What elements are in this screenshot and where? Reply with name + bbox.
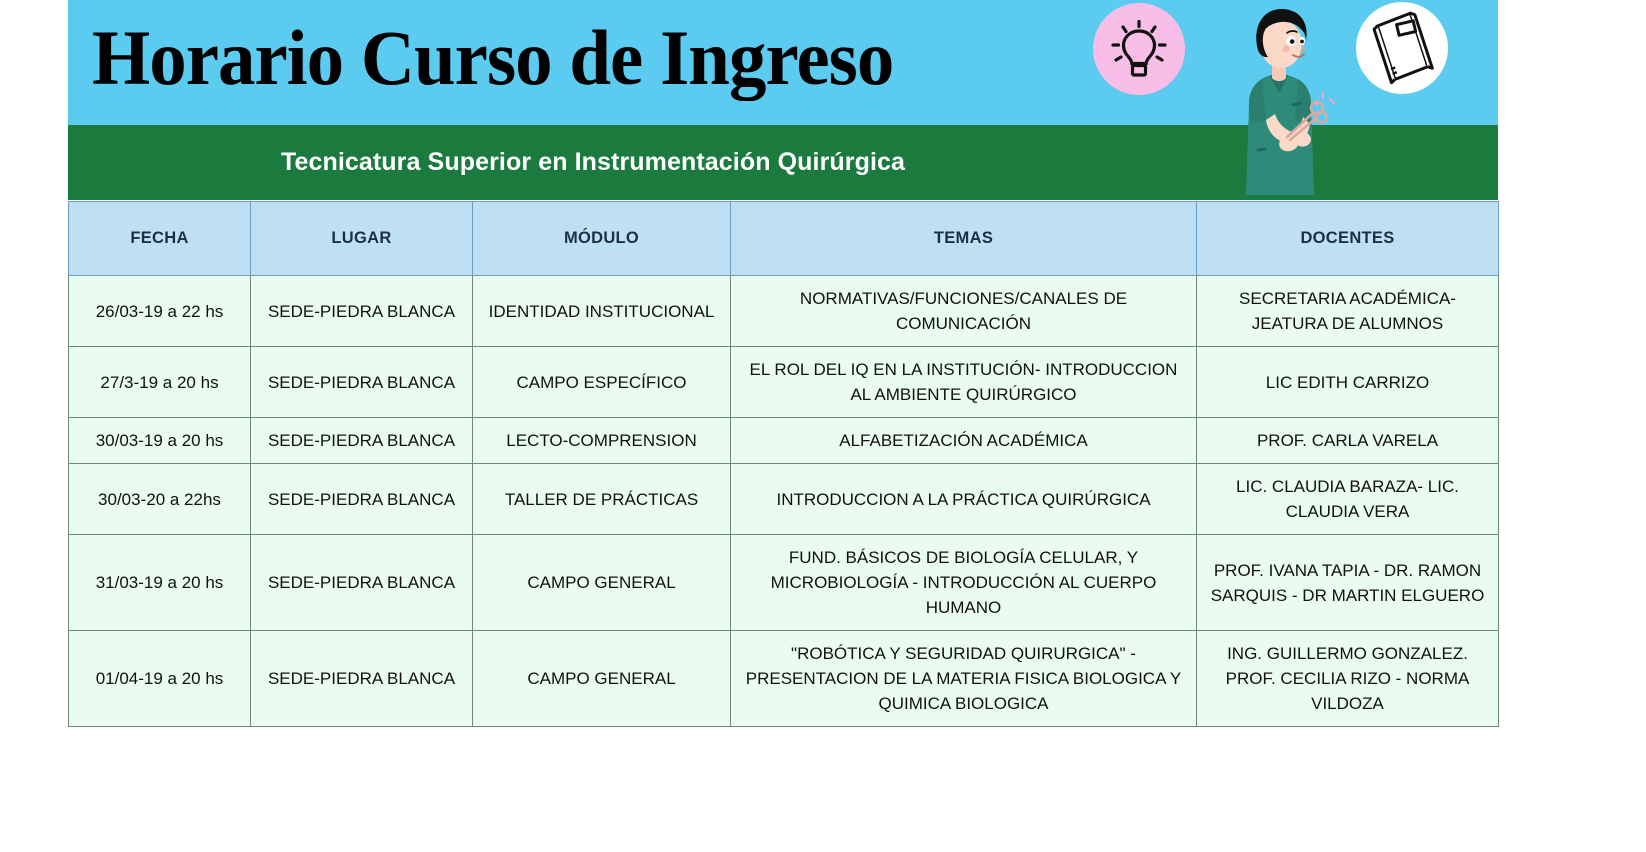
cell-lugar: SEDE-PIEDRA BLANCA: [251, 418, 473, 464]
cell-modulo: CAMPO ESPECÍFICO: [473, 347, 731, 418]
table-row: 30/03-20 a 22hs SEDE-PIEDRA BLANCA TALLE…: [69, 464, 1499, 535]
book-icon: [1356, 2, 1448, 94]
table-row: 27/3-19 a 20 hs SEDE-PIEDRA BLANCA CAMPO…: [69, 347, 1499, 418]
cell-temas: FUND. BÁSICOS DE BIOLOGÍA CELULAR, Y MIC…: [731, 535, 1197, 631]
cell-temas: NORMATIVAS/FUNCIONES/CANALES DE COMUNICA…: [731, 276, 1197, 347]
schedule-table: FECHA LUGAR MÓDULO TEMAS DOCENTES 26/03-…: [68, 201, 1499, 727]
cell-temas: ALFABETIZACIÓN ACADÉMICA: [731, 418, 1197, 464]
cell-modulo: IDENTIDAD INSTITUCIONAL: [473, 276, 731, 347]
page-root: Horario Curso de Ingreso: [0, 0, 1646, 852]
cell-docentes: LIC EDITH CARRIZO: [1197, 347, 1499, 418]
cell-docentes: SECRETARIA ACADÉMICA-JEATURA DE ALUMNOS: [1197, 276, 1499, 347]
program-name: Tecnicatura Superior en Instrumentación …: [68, 125, 1118, 200]
column-header-temas: TEMAS: [731, 202, 1197, 276]
cell-lugar: SEDE-PIEDRA BLANCA: [251, 347, 473, 418]
cell-temas: EL ROL DEL IQ EN LA INSTITUCIÓN- INTRODU…: [731, 347, 1197, 418]
table-row: 26/03-19 a 22 hs SEDE-PIEDRA BLANCA IDEN…: [69, 276, 1499, 347]
column-header-docentes: DOCENTES: [1197, 202, 1499, 276]
lightbulb-icon: [1093, 3, 1185, 95]
cell-fecha: 30/03-20 a 22hs: [69, 464, 251, 535]
cell-lugar: SEDE-PIEDRA BLANCA: [251, 535, 473, 631]
header-band: Horario Curso de Ingreso: [68, 0, 1498, 125]
cell-fecha: 27/3-19 a 20 hs: [69, 347, 251, 418]
cell-lugar: SEDE-PIEDRA BLANCA: [251, 276, 473, 347]
cell-docentes: PROF. CARLA VARELA: [1197, 418, 1499, 464]
book-icon-badge: [1356, 2, 1448, 94]
cell-temas: INTRODUCCION A LA PRÁCTICA QUIRÚRGICA: [731, 464, 1197, 535]
cell-modulo: LECTO-COMPRENSION: [473, 418, 731, 464]
cell-lugar: SEDE-PIEDRA BLANCA: [251, 631, 473, 727]
cell-docentes: LIC. CLAUDIA BARAZA- LIC. CLAUDIA VERA: [1197, 464, 1499, 535]
cell-docentes: PROF. IVANA TAPIA - DR. RAMON SARQUIS - …: [1197, 535, 1499, 631]
cell-fecha: 30/03-19 a 20 hs: [69, 418, 251, 464]
surgical-nurse-illustration: [1213, 0, 1343, 195]
table-row: 31/03-19 a 20 hs SEDE-PIEDRA BLANCA CAMP…: [69, 535, 1499, 631]
cell-modulo: CAMPO GENERAL: [473, 535, 731, 631]
column-header-fecha: FECHA: [69, 202, 251, 276]
page-title: Horario Curso de Ingreso: [92, 2, 893, 114]
column-header-modulo: MÓDULO: [473, 202, 731, 276]
cell-fecha: 01/04-19 a 20 hs: [69, 631, 251, 727]
column-header-lugar: LUGAR: [251, 202, 473, 276]
lightbulb-icon-badge: [1093, 3, 1185, 95]
cell-modulo: TALLER DE PRÁCTICAS: [473, 464, 731, 535]
cell-lugar: SEDE-PIEDRA BLANCA: [251, 464, 473, 535]
table-row: 30/03-19 a 20 hs SEDE-PIEDRA BLANCA LECT…: [69, 418, 1499, 464]
cell-fecha: 31/03-19 a 20 hs: [69, 535, 251, 631]
cell-modulo: CAMPO GENERAL: [473, 631, 731, 727]
table-header-row: FECHA LUGAR MÓDULO TEMAS DOCENTES: [69, 202, 1499, 276]
cell-fecha: 26/03-19 a 22 hs: [69, 276, 251, 347]
table-row: 01/04-19 a 20 hs SEDE-PIEDRA BLANCA CAMP…: [69, 631, 1499, 727]
cell-docentes: ING. GUILLERMO GONZALEZ. PROF. CECILIA R…: [1197, 631, 1499, 727]
cell-temas: "ROBÓTICA Y SEGURIDAD QUIRURGICA" - PRES…: [731, 631, 1197, 727]
